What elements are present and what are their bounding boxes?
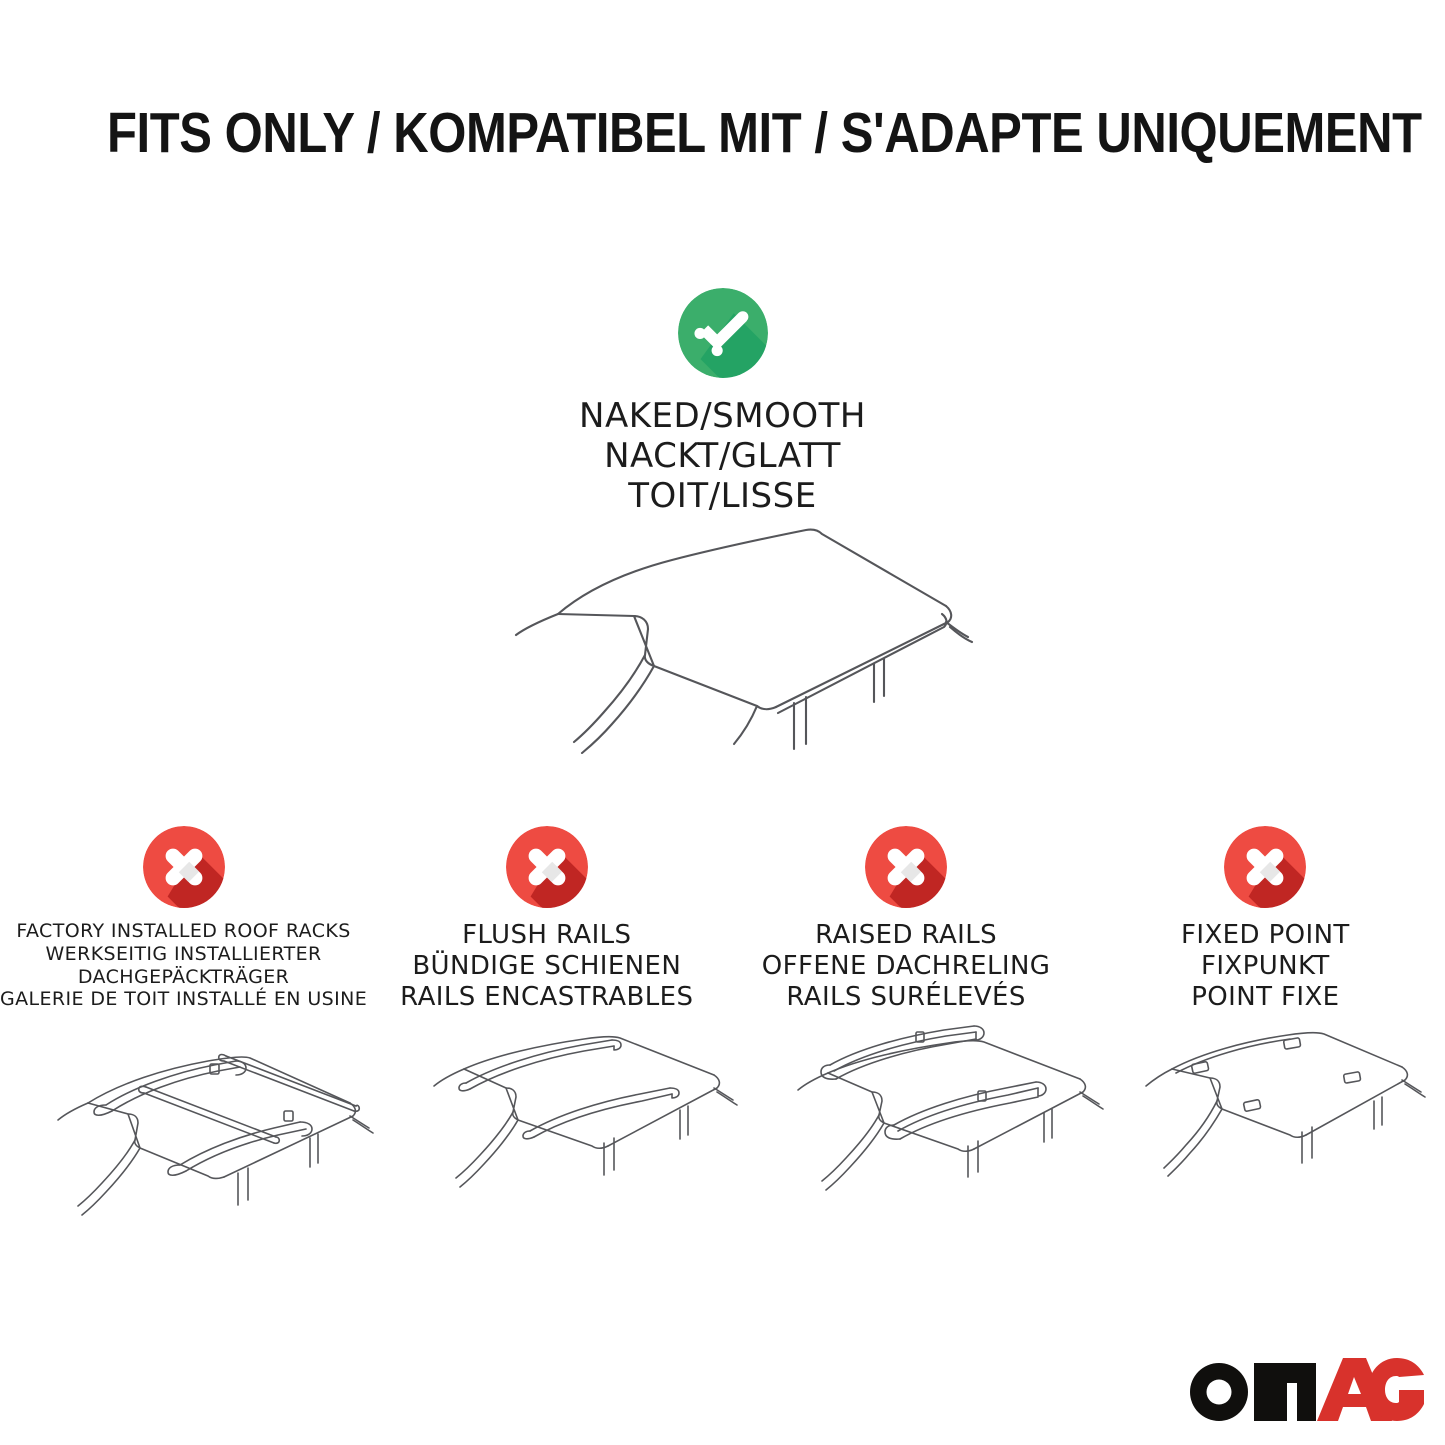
incompatible-column-fixed-point: FIXED POINT FIXPUNKT POINT FIXE <box>1086 826 1445 1014</box>
page-title-text: FITS ONLY / KOMPATIBEL MIT / S'ADAPTE UN… <box>107 100 1422 166</box>
incompatible-label-line-2: OFFENE DACHRELING <box>762 951 1051 982</box>
incompatible-label-line-3: POINT FIXE <box>1181 982 1350 1013</box>
incompatible-label-line-2: FIXPUNKT <box>1181 951 1350 982</box>
incompatible-label-line-1: FIXED POINT <box>1181 920 1350 951</box>
compatible-group: NAKED/SMOOTH NACKT/GLATT TOIT/LISSE <box>0 288 1445 516</box>
page-title: FITS ONLY / KOMPATIBEL MIT / S'ADAPTE UN… <box>0 100 1445 166</box>
factory-roof-rack-illustration <box>28 1025 400 1225</box>
incompatible-label-line-2: BÜNDIGE SCHIENEN <box>400 951 693 982</box>
incompatible-label-line-3: RAILS ENCASTRABLES <box>400 982 693 1013</box>
incompatible-column-flush-rails: FLUSH RAILS BÜNDIGE SCHIENEN RAILS ENCAS… <box>367 826 726 1014</box>
flush-rails-illustration <box>418 1025 790 1225</box>
incompatible-label-line-1: RAISED RAILS <box>762 920 1051 951</box>
incompatible-labels: RAISED RAILS OFFENE DACHRELING RAILS SUR… <box>762 920 1051 1014</box>
incompatible-label-line-3: DACHGEPÄCKTRÄGER <box>0 966 367 989</box>
incompatible-column-raised-rails: RAISED RAILS OFFENE DACHRELING RAILS SUR… <box>726 826 1085 1014</box>
smooth-roof-illustration <box>476 494 1016 754</box>
cross-circle-icon <box>143 826 225 908</box>
omac-logo <box>1186 1352 1424 1424</box>
incompatible-labels: FIXED POINT FIXPUNKT POINT FIXE <box>1181 920 1350 1014</box>
check-circle-icon <box>678 288 768 378</box>
incompatible-label-line-2: WERKSEITIG INSTALLIERTER <box>0 943 367 966</box>
incompatible-group: FACTORY INSTALLED ROOF RACKS WERKSEITIG … <box>0 826 1445 1014</box>
incompatible-labels: FLUSH RAILS BÜNDIGE SCHIENEN RAILS ENCAS… <box>400 920 693 1014</box>
compatible-label-de: NACKT/GLATT <box>579 436 866 476</box>
cross-circle-icon <box>1224 826 1306 908</box>
cross-circle-icon <box>865 826 947 908</box>
incompatible-label-line-4: GALERIE DE TOIT INSTALLÉ EN USINE <box>0 988 367 1011</box>
incompatible-labels: FACTORY INSTALLED ROOF RACKS WERKSEITIG … <box>0 920 367 1011</box>
incompatible-column-factory-roof-racks: FACTORY INSTALLED ROOF RACKS WERKSEITIG … <box>0 826 367 1014</box>
raised-rails-illustration <box>788 1025 1160 1225</box>
fixed-point-illustration <box>1138 1025 1440 1225</box>
cross-circle-icon <box>506 826 588 908</box>
incompatible-label-line-3: RAILS SURÉLEVÉS <box>762 982 1051 1013</box>
compatible-label-en: NAKED/SMOOTH <box>579 396 866 436</box>
incompatible-label-line-1: FLUSH RAILS <box>400 920 693 951</box>
incompatible-label-line-1: FACTORY INSTALLED ROOF RACKS <box>0 920 367 943</box>
compatibility-infographic: FITS ONLY / KOMPATIBEL MIT / S'ADAPTE UN… <box>0 0 1445 1445</box>
